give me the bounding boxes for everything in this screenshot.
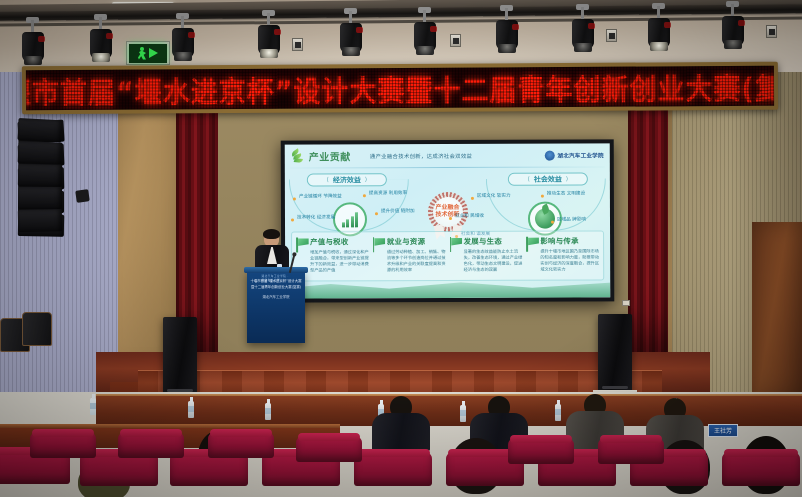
wall-mounted-speaker [75, 189, 90, 203]
podium-line-2: 暨十二届青年创新创业大赛(复赛) [250, 285, 302, 291]
ceiling-sensor-2 [292, 38, 303, 51]
projection-screen: 产业贡献 通产业融合技术创新，达成济社会双效益 湖北汽车工业学院 ⟨ 经济效益 … [281, 139, 615, 302]
podium-sign: 十堰市首届“堰水进京杯”设计大赛 暨十二届青年创新创业大赛(复赛) 湖北汽车工业… [250, 279, 302, 300]
leaf-icon [291, 150, 304, 163]
water-bottle-2 [188, 401, 194, 418]
node-left-2: 提高资源 利用效率 [369, 191, 407, 197]
podium-line-1: 十堰市首届“堰水进京杯”设计大赛 [250, 279, 302, 285]
bar-chart-bars [342, 212, 359, 227]
led-banner-text: 十堰市首届“堰水进京杯”设计大赛暨十二届青年创新创业大赛(复赛) [22, 64, 778, 111]
seat-5[interactable] [354, 452, 432, 496]
node-left-4: 技术转化 经济发展 [297, 215, 335, 221]
seat-mid-1[interactable] [30, 432, 96, 462]
flag-icon-1 [296, 237, 309, 252]
slide-column-4: 影响与传承 提升十堰市地区国乃至国际市场的知名度和影响力度，助推带动实创与经济的… [525, 235, 600, 275]
column-2-body: 通过劳动种植、加工、销售、物流等多个环节创造岗位并通过技术升级和产业的关联度提高… [387, 249, 447, 274]
water-bottle-1 [90, 398, 96, 415]
slide-surface: 产业贡献 通产业融合技术创新，达成济社会双效益 湖北汽车工业学院 ⟨ 经济效益 … [285, 143, 611, 298]
stage-light-3 [172, 26, 194, 66]
stage-light-7 [496, 18, 518, 58]
stage-light-6 [414, 20, 436, 60]
node-right-4: 区域品 牌影响 [557, 218, 586, 224]
logo-text: 湖北汽车工业学院 [557, 151, 603, 159]
slide-title: 产业贡献 [309, 148, 351, 163]
seat-mid-3[interactable] [208, 432, 274, 462]
column-4-heading: 影响与传承 [540, 235, 600, 246]
stage-light-9 [648, 16, 670, 56]
stage-light-8 [572, 17, 594, 57]
running-man-icon [138, 47, 147, 60]
judge-1 [372, 396, 430, 448]
ceiling-sensor-4 [606, 29, 617, 42]
globe-shape [535, 209, 555, 229]
chevron-left-icon-2: ⟨ [527, 176, 529, 183]
name-card: 王社芳 [708, 424, 738, 437]
water-bottle-6 [555, 404, 561, 421]
ceiling-sensor-5 [766, 25, 777, 38]
logo-mark-icon [544, 150, 554, 160]
water-bottle-3 [265, 403, 271, 420]
floor-speaker-right [598, 314, 632, 392]
flag-icon-2 [373, 237, 386, 252]
led-banner: 十堰市首届“堰水进京杯”设计大赛暨十二届青年创新创业大赛(复赛) [22, 62, 778, 115]
badge-inner: 产业融合 技术创新 [432, 197, 462, 227]
pill-social-benefit: ⟨ 社会效益 ⟩ [508, 173, 588, 186]
seat-mid-4[interactable] [296, 436, 362, 466]
stage-light-10 [722, 14, 744, 54]
exit-sign [126, 41, 170, 65]
floor-speaker-left [163, 317, 197, 395]
stage-light-2 [90, 27, 112, 67]
arrow-right-icon [149, 48, 158, 58]
seat-mid-2[interactable] [118, 432, 184, 462]
slide-subtitle: 通产业融合技术创新，达成济社会双效益 [370, 151, 472, 159]
node-right-2: 推动生态 文明建设 [547, 192, 585, 198]
water-bottle-5 [460, 405, 466, 422]
column-4-body: 提升十堰市地区国乃至国际市场的知名度和影响力度，助推带动实创与经济的深度融合，提… [540, 248, 600, 273]
slide-header: 产业贡献 通产业融合技术创新，达成济社会双效益 湖北汽车工业学院 [285, 143, 610, 167]
podium: 湖北汽车工业学院 · 创新创业大赛 十堰市首届“堰水进京杯”设计大赛 暨十二届青… [247, 271, 305, 343]
slide-column-2: 就业与资源 通过劳动种植、加工、销售、物流等多个环节创造岗位并通过技术升级和产业… [372, 236, 447, 276]
flag-icon-3 [450, 237, 463, 252]
chevron-right-icon-2: ⟩ [566, 176, 568, 183]
column-1-body: 增加产值与税收，通过深化和产业链融合，带来型创新产业链提升下的新效益，进一步带动… [310, 249, 370, 274]
slide-column-3: 发展与生态 显著的生态效益能防止水土流失，改善生态环境，通过产业绿色化，带动生态… [449, 236, 524, 276]
chevron-left-icon: ⟨ [326, 176, 328, 183]
podium-top [244, 267, 308, 273]
exit-sign-panel [129, 44, 167, 63]
seat-mid-6[interactable] [598, 438, 664, 468]
university-logo: 湖北汽车工业学院 [544, 150, 603, 160]
chevron-right-icon: ⟩ [365, 176, 367, 183]
flag-icon-4 [526, 237, 539, 252]
column-2-heading: 就业与资源 [387, 236, 447, 247]
stage-light-1 [22, 30, 44, 70]
pill-social-label: 社会效益 [534, 174, 562, 184]
seat-mid-5[interactable] [508, 438, 574, 468]
ceiling-sensor-3 [450, 34, 461, 47]
side-chair-2[interactable] [22, 312, 52, 364]
right-side-door[interactable] [752, 222, 802, 396]
pill-economic-benefit: ⟨ 经济效益 ⟩ [307, 173, 387, 186]
podium-line-3: 湖北汽车工业学院 [250, 295, 302, 301]
center-badge: 产业融合 技术创新 [427, 192, 467, 232]
seat-9[interactable] [722, 452, 800, 496]
stage-light-5 [340, 21, 362, 61]
wall-outlet-right [622, 300, 630, 306]
column-3-heading: 发展与生态 [464, 236, 524, 247]
node-left-3: 提升价值 链附加 [381, 209, 415, 215]
stage-light-4 [258, 23, 280, 63]
node-left-1: 产业链循环 节降效益 [299, 194, 342, 200]
node-right-3: 就业和 民增收 [455, 214, 484, 220]
presenter-hair [263, 229, 280, 239]
node-right-1: 区域文化 软实力 [477, 194, 511, 200]
pill-economic-label: 经济效益 [333, 175, 361, 185]
slide-four-columns: 产值与税收 增加产值与税收，通过深化和产业链融合，带来型创新产业链提升下的新效益… [291, 230, 604, 281]
column-1-heading: 产值与税收 [310, 236, 370, 247]
line-array-speaker-right [18, 118, 62, 230]
name-card-text: 王社芳 [714, 426, 732, 435]
auditorium-scene: 产业贡献 通产业融合技术创新，达成济社会双效益 湖北汽车工业学院 ⟨ 经济效益 … [0, 0, 802, 497]
column-3-body: 显著的生态效益能防止水土流失，改善生态环境，通过产业绿色化，带动生态文明建设，促… [464, 248, 524, 273]
